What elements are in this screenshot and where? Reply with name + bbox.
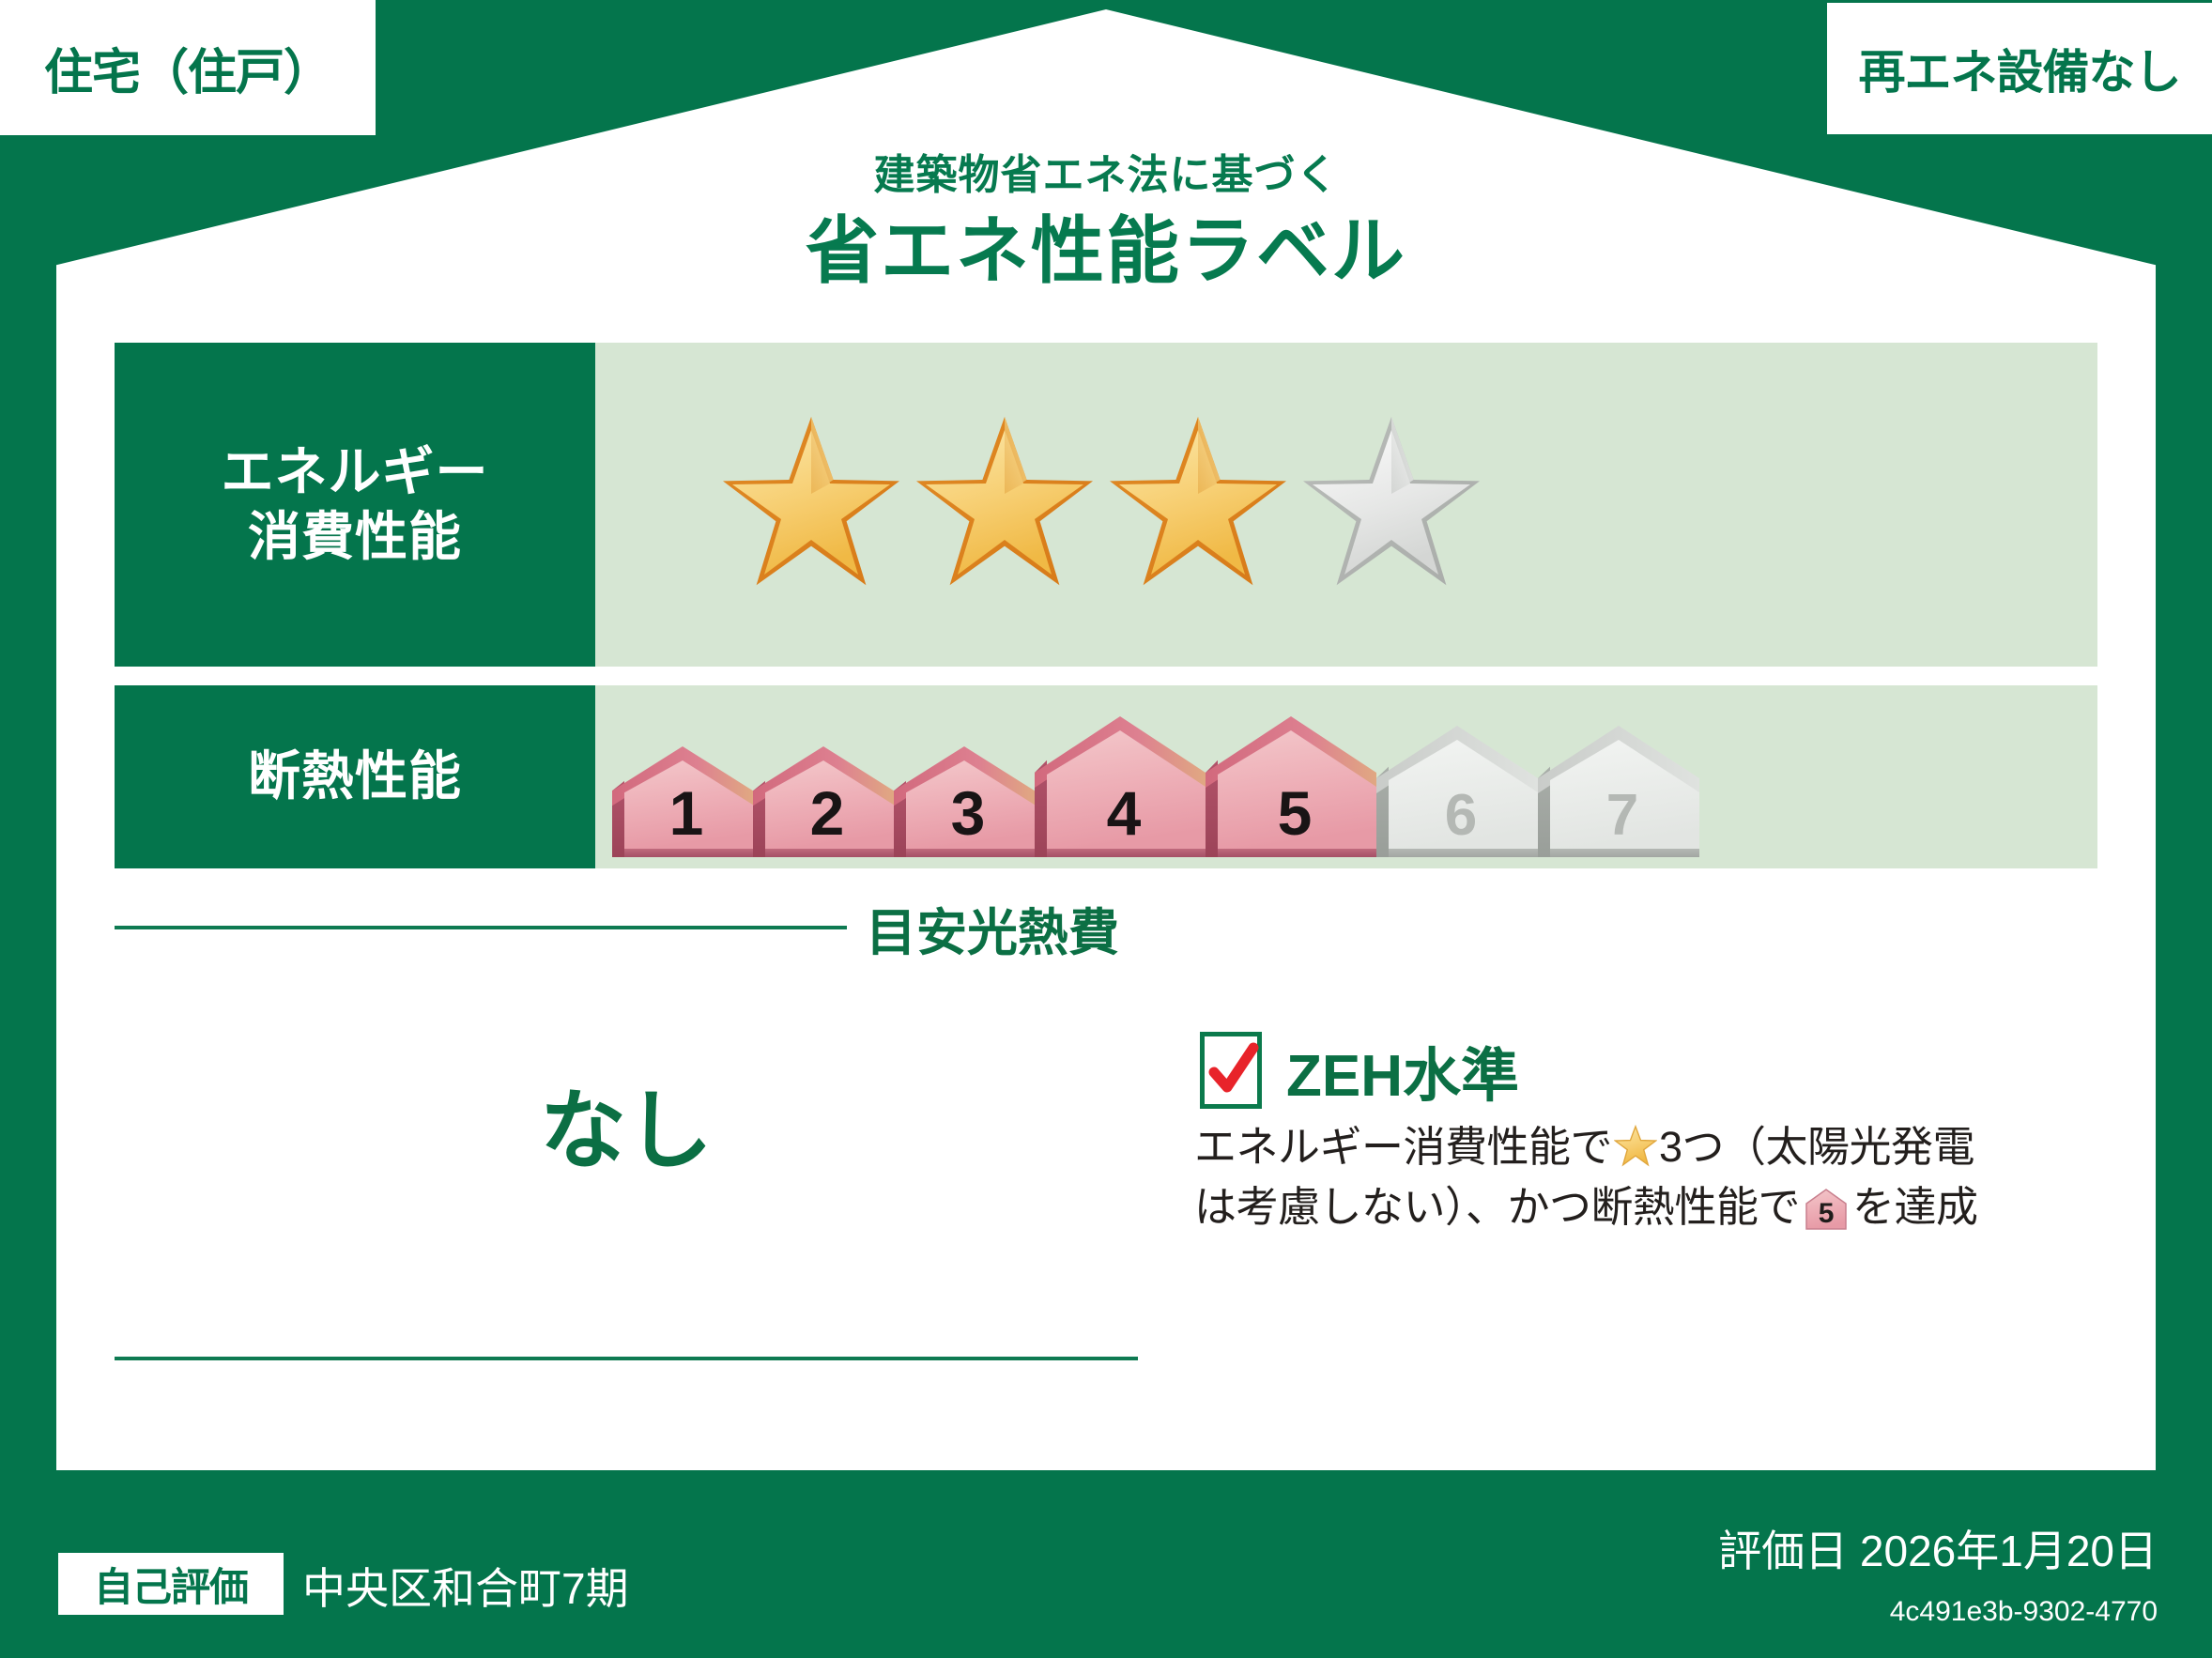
insulation-level-number: 7 <box>1606 783 1638 848</box>
insulation-level-active: 4 <box>1035 709 1206 857</box>
zeh-standard-title: ZEH水準 <box>1286 1028 1519 1113</box>
insulation-level-active: 3 <box>894 739 1035 857</box>
badge-renewable-energy-label: 再エネ設備なし <box>1859 35 2181 102</box>
energy-label-line2: 消費性能 <box>248 505 462 569</box>
inline-house-number: 5 <box>1819 1198 1834 1229</box>
star-rating <box>717 411 1485 599</box>
checkmark-icon <box>1206 1042 1259 1104</box>
insulation-level-scale: 1234567 <box>612 698 1699 857</box>
label-identifier: 4c491e3b-9302-4770 <box>1890 1596 2158 1628</box>
insulation-performance-row: 断熱性能 1234567 <box>115 685 2097 868</box>
insulation-label-line1: 断熱性能 <box>248 745 462 808</box>
insulation-level-number: 3 <box>951 778 986 848</box>
insulation-level-number: 4 <box>1107 778 1142 848</box>
insulation-performance-value: 1234567 <box>595 685 2097 868</box>
insulation-level-number: 1 <box>669 778 704 848</box>
zeh-desc-part3: は考慮しない）、かつ断熱性能で <box>1194 1183 1800 1231</box>
zeh-desc-part4: を達成 <box>1852 1183 1978 1231</box>
evaluation-type-label: 自己評価 <box>94 1556 248 1613</box>
evaluation-type-badge: 自己評価 <box>58 1553 284 1615</box>
insulation-level-active: 2 <box>753 739 894 857</box>
zeh-standard-header: ZEH水準 <box>1200 1028 1519 1113</box>
heading-rule-left <box>115 926 847 929</box>
zeh-checkbox[interactable] <box>1200 1032 1262 1109</box>
energy-performance-label: エネルギー 消費性能 <box>115 343 595 667</box>
estimated-utility-cost-label: 目安光熱費 <box>847 891 1138 965</box>
page-title: 省エネ性能ラベル <box>0 192 2212 298</box>
insulation-level-active: 5 <box>1206 709 1376 857</box>
energy-performance-row: エネルギー 消費性能 <box>115 343 2097 667</box>
badge-renewable-energy: 再エネ設備なし <box>1827 3 2212 134</box>
insulation-level-number: 5 <box>1278 778 1313 848</box>
estimated-utility-cost-heading: 目安光熱費 <box>115 901 1138 954</box>
property-address: 中央区和合町7期 <box>302 1555 629 1617</box>
zeh-desc-part1: エネルギー消費性能で <box>1194 1123 1612 1171</box>
evaluation-date: 評価日 2026年1月20日 <box>1718 1517 2158 1579</box>
label-canvas: 住宅（住戸） 再エネ設備なし 建築物省エネ法に基づく 省エネ性能ラベル エネルギ… <box>0 0 2212 1658</box>
energy-label-line1: エネルギー <box>222 440 489 504</box>
inline-house-icon: 5 <box>1803 1184 1850 1231</box>
energy-performance-value <box>595 343 2097 667</box>
insulation-level-inactive: 7 <box>1538 718 1699 857</box>
zeh-standard-description: エネルギー消費性能で3つ（太陽光発電は考慮しない）、かつ断熱性能で5を達成 <box>1194 1117 2143 1237</box>
insulation-level-inactive: 6 <box>1376 718 1538 857</box>
insulation-level-active: 1 <box>612 739 753 857</box>
badge-building-type-label: 住宅（住戸） <box>44 33 331 103</box>
estimated-utility-cost-value: なし <box>115 1061 1138 1186</box>
star-empty-icon <box>1298 411 1485 599</box>
insulation-level-number: 2 <box>810 778 845 848</box>
zeh-desc-part2: 3つ（太陽光発電 <box>1659 1123 1974 1171</box>
inline-star-icon <box>1614 1125 1657 1168</box>
star-filled-icon <box>717 411 905 599</box>
star-filled-icon <box>911 411 1098 599</box>
cost-section-bottom-rule <box>115 1357 1138 1360</box>
badge-building-type: 住宅（住戸） <box>0 0 376 135</box>
insulation-level-number: 6 <box>1445 783 1477 848</box>
insulation-performance-label: 断熱性能 <box>115 685 595 868</box>
star-filled-icon <box>1104 411 1292 599</box>
